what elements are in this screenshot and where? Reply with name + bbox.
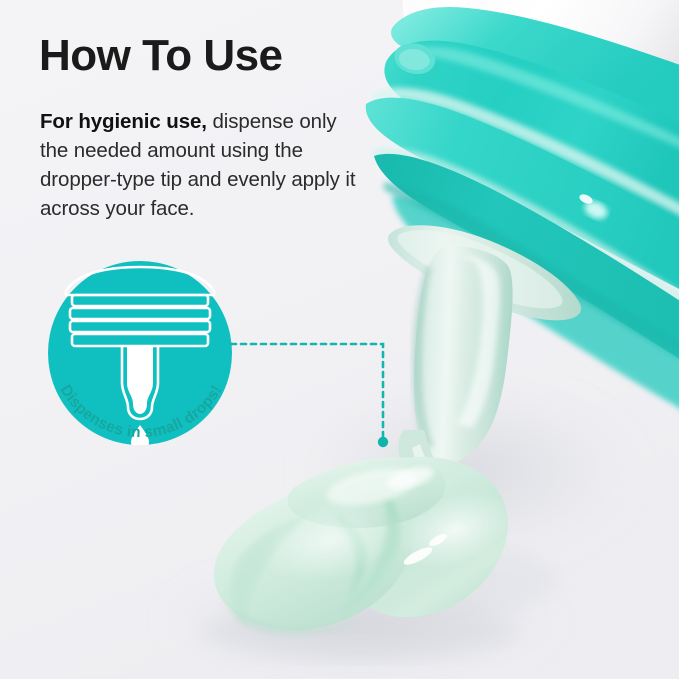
badge-to-nozzle-connector [225,330,405,460]
connector-endpoint-dot [378,437,388,447]
how-to-use-panel: How To Use For hygienic use, dispense on… [0,0,679,679]
page-title: How To Use [39,33,283,79]
instruction-paragraph: For hygienic use, dispense only the need… [40,107,370,223]
instruction-lead: For hygienic use, [40,110,207,133]
dropper-cap-with-drop-icon [48,261,232,445]
dispenses-in-small-drops-badge [48,261,232,445]
